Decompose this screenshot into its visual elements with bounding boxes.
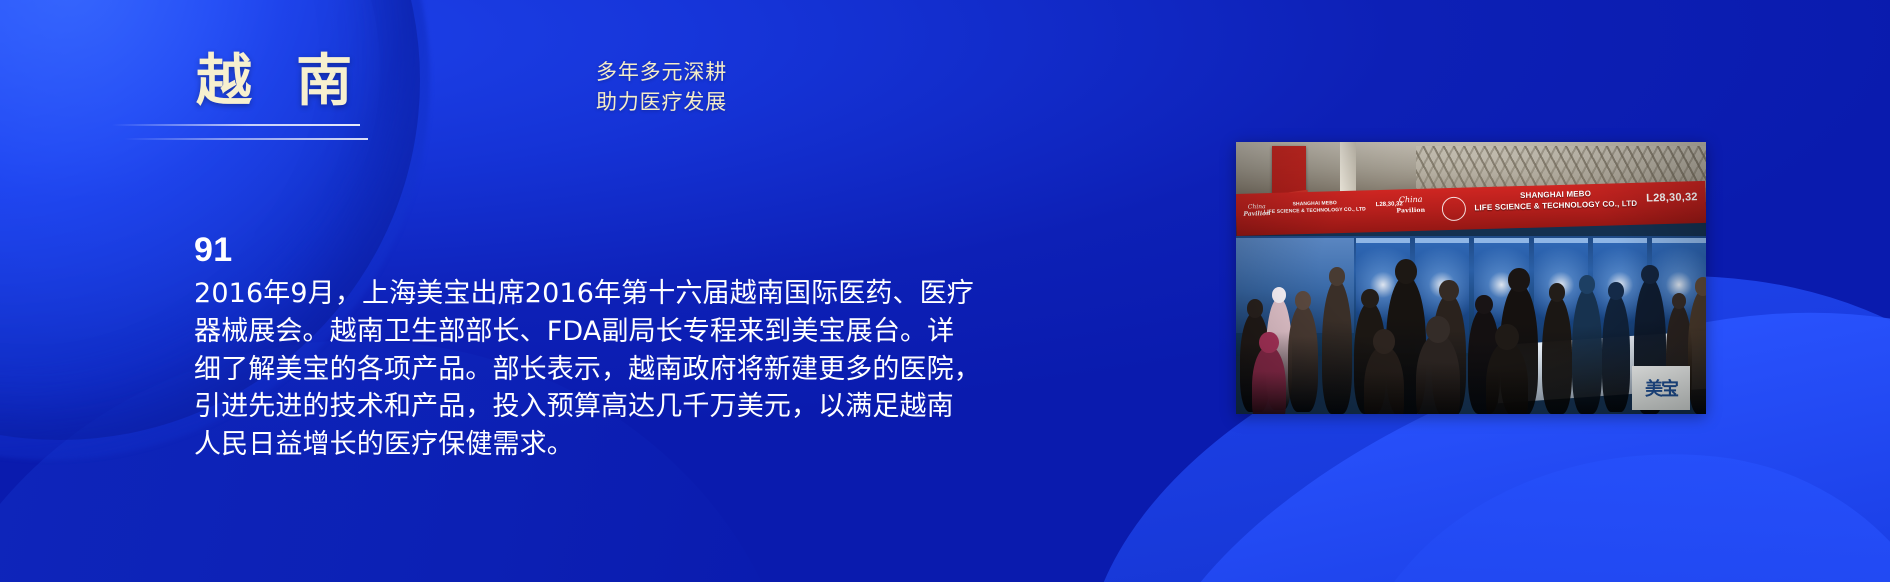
paragraph-line-5: 人民日益增长的医疗保健需求。 — [194, 426, 1124, 464]
subtitle-line-1: 多年多元深耕 — [596, 58, 727, 88]
photo-booth-sign: 美宝 — [1632, 366, 1690, 410]
paragraph-line-4: 引进先进的技术和产品，投入预算高达几千万美元，以满足越南 — [194, 388, 1124, 426]
body-copy: 91 2016年9月，上海美宝出席2016年第十六届越南国际医药、医疗 器械展会… — [194, 233, 1124, 464]
photo-pavilion-name: China — [1399, 195, 1423, 205]
photo-banner-text: SHANGHAI MEBO LIFE SCIENCE & TECHNOLOGY … — [1431, 187, 1680, 216]
photo-banner-line-2: LIFE SCIENCE & TECHNOLOGY CO., LTD — [1474, 199, 1637, 213]
photo-booth-code: L28,30,32 — [1646, 191, 1698, 204]
page-title: 越 南 — [196, 54, 364, 110]
paragraph-line-1: 2016年9月，上海美宝出席2016年第十六届越南国际医药、医疗 — [194, 275, 1124, 313]
title-underline-lower — [124, 138, 368, 140]
paragraph-line-3: 细了解美宝的各项产品。部长表示，越南政府将新建更多的医院， — [194, 351, 1124, 389]
photo-pavilion-logo: China Pavilion — [1386, 194, 1437, 215]
slide-canvas: 越 南 多年多元深耕 助力医疗发展 91 2016年9月，上海美宝出席2016年… — [0, 0, 1890, 582]
subtitle-line-2: 助力医疗发展 — [596, 88, 727, 118]
subtitle: 多年多元深耕 助力医疗发展 — [596, 58, 727, 118]
exhibition-photo: China Pavilion SHANGHAI MEBO LIFE SCIENC… — [1236, 142, 1706, 414]
body-paragraph: 2016年9月，上海美宝出席2016年第十六届越南国际医药、医疗 器械展会。越南… — [194, 275, 1124, 464]
title-underline-upper — [112, 124, 360, 126]
sequence-number: 91 — [194, 233, 1124, 267]
photo-banner-secondary-line-2: LIFE SCIENCE & TECHNOLOGY CO., LTD — [1264, 206, 1366, 215]
photo-banner-secondary-text: SHANGHAI MEBO LIFE SCIENCE & TECHNOLOGY … — [1260, 199, 1370, 215]
photo-pavilion-sub: Pavilion — [1396, 207, 1425, 215]
paragraph-line-2: 器械展会。越南卫生部部长、FDA副局长专程来到美宝展台。详 — [194, 313, 1124, 351]
photo-banner-line-1: SHANGHAI MEBO — [1520, 189, 1591, 200]
